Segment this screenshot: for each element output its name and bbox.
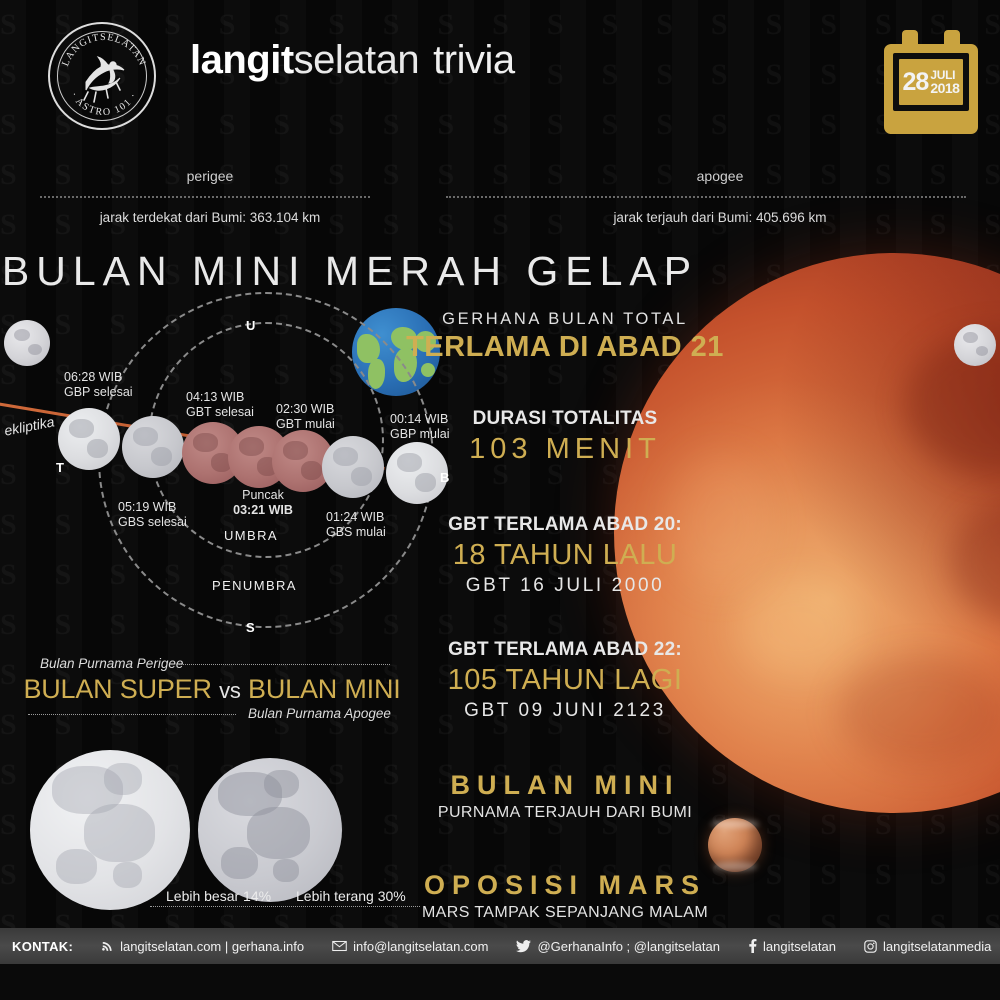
brand-part-langit: langit <box>190 38 294 82</box>
eclipse-moon-6 <box>58 408 120 470</box>
apogee-label: apogee <box>620 168 820 184</box>
svg-text:· ASTRO 101 ·: · ASTRO 101 · <box>68 90 140 118</box>
facts-column: GERHANA BULAN TOTAL TERLAMA DI ABAD 21 D… <box>400 310 730 922</box>
stat-size-label: Lebih besar 14% <box>166 888 271 904</box>
minimoon-illustration <box>198 758 342 902</box>
fact-sub-4: GBT 09 JUNI 2123 <box>400 700 730 722</box>
brand-part-trivia: trivia <box>433 38 514 82</box>
pegasus-rider-icon: LANGITSELATAN · ASTRO 101 · <box>50 24 158 132</box>
calendar-date-area: 28 JULI 2018 <box>899 59 963 105</box>
phase-label-gbt-selesai: 04:13 WIBGBT selesai <box>186 390 254 420</box>
stat-bright-label: Lebih terang 30% <box>296 888 406 904</box>
fact-sub-5: PURNAMA TERJAUH DARI BUMI <box>400 804 730 822</box>
fact-block-bulan-mini: BULAN MINI PURNAMA TERJAUH DARI BUMI <box>400 770 730 822</box>
phase-label-gbp-selesai: 06:28 WIBGBP selesai <box>64 370 133 400</box>
comparison-title-vs: vs <box>219 678 241 703</box>
phase-label-gbs-mulai: 01:24 WIBGBS mulai <box>326 510 386 540</box>
comparison-stats-dotted <box>150 906 420 907</box>
fact-block-century-20: GBT TERLAMA ABAD 20: 18 TAHUN LALU GBT 1… <box>400 514 730 597</box>
comparison-dotted-top <box>176 664 390 665</box>
contact-item-twitter[interactable]: @GerhanaInfo ; @langitselatan <box>516 939 720 954</box>
calendar-year: 2018 <box>930 81 959 95</box>
brand-title: langitselatantrivia <box>190 38 515 83</box>
fact-block-oposisi-mars: OPOSISI MARS MARS TAMPAK SEPANJANG MALAM <box>400 870 730 922</box>
footer-spacer <box>0 964 1000 1000</box>
rss-icon <box>101 940 114 953</box>
fact-block-eclipse-record: GERHANA BULAN TOTAL TERLAMA DI ABAD 21 <box>400 310 730 364</box>
fact-sub-6: MARS TAMPAK SEPANJANG MALAM <box>400 904 730 922</box>
fact-sub-3: GBT 16 JULI 2000 <box>400 575 730 597</box>
calendar-badge: 28 JULI 2018 <box>884 30 978 134</box>
fact-kicker-1: GERHANA BULAN TOTAL <box>400 310 730 329</box>
calendar-day: 28 <box>903 70 929 95</box>
header: LANGITSELATAN · ASTRO 101 · langitselata… <box>0 0 1000 150</box>
comparison-caption-top: Bulan Purnama Perigee <box>40 656 183 671</box>
fact-headline-6: OPOSISI MARS <box>400 870 730 901</box>
orbit-distance-strip: perigee jarak terdekat dari Bumi: 363.10… <box>0 150 1000 260</box>
contact-text-email: info@langitselatan.com <box>353 939 488 954</box>
twitter-icon <box>516 940 531 953</box>
contact-text-twitter: @GerhanaInfo ; @langitselatan <box>537 939 720 954</box>
penumbra-label: PENUMBRA <box>212 578 297 593</box>
perigee-dotted-line <box>40 196 370 198</box>
contact-text-facebook: langitselatan <box>763 939 836 954</box>
contact-item-email[interactable]: info@langitselatan.com <box>332 939 488 954</box>
apogee-moon-icon <box>954 324 996 366</box>
point-s: S <box>246 620 255 635</box>
brand-part-selatan: selatan <box>294 38 419 82</box>
contact-text-instagram: langitselatanmedia <box>883 939 991 954</box>
fact-kicker-2: DURASI TOTALITAS <box>400 408 730 430</box>
contact-label: KONTAK: <box>12 939 73 954</box>
perigee-sublabel: jarak terdekat dari Bumi: 363.104 km <box>90 210 330 225</box>
calendar-screen: 28 JULI 2018 <box>893 53 969 111</box>
langitselatan-logo: LANGITSELATAN · ASTRO 101 · <box>48 22 156 130</box>
eclipse-moon-2 <box>322 436 384 498</box>
point-t: T <box>56 460 64 475</box>
fact-headline-2: 103 MENIT <box>400 433 730 466</box>
phase-label-gbs-selesai: 05:19 WIBGBS selesai <box>118 500 187 530</box>
apogee-dotted-line <box>446 196 966 198</box>
fact-block-duration: DURASI TOTALITAS 103 MENIT <box>400 408 730 466</box>
comparison-title-b: BULAN MINI <box>248 674 401 704</box>
comparison-title-a: BULAN SUPER <box>23 674 211 704</box>
contact-item-instagram[interactable]: langitselatanmedia <box>864 939 991 954</box>
contact-item-facebook[interactable]: langitselatan <box>748 939 836 954</box>
eclipse-moon-5 <box>122 416 184 478</box>
perigee-label: perigee <box>110 168 310 184</box>
apogee-sublabel: jarak terjauh dari Bumi: 405.696 km <box>600 210 840 225</box>
contact-footer: KONTAK: langitselatan.com | gerhana.info… <box>0 928 1000 964</box>
fact-block-century-22: GBT TERLAMA ABAD 22: 105 TAHUN LAGI GBT … <box>400 639 730 722</box>
point-u: U <box>246 318 255 333</box>
envelope-icon <box>332 940 347 952</box>
calendar-body: 28 JULI 2018 <box>884 44 978 134</box>
comparison-title: BULAN SUPER vs BULAN MINI <box>22 674 402 705</box>
comparison-dotted-bottom <box>28 714 236 715</box>
peak-label: Puncak03:21 WIB <box>228 488 298 518</box>
fact-headline-3: 18 TAHUN LALU <box>400 539 730 572</box>
umbra-label: UMBRA <box>224 528 278 543</box>
fact-headline-4: 105 TAHUN LAGI <box>400 664 730 697</box>
fact-headline-5: BULAN MINI <box>400 770 730 801</box>
facebook-icon <box>748 939 757 953</box>
contact-item-website[interactable]: langitselatan.com | gerhana.info <box>101 939 304 954</box>
fact-headline-1: TERLAMA DI ABAD 21 <box>400 331 730 364</box>
fact-kicker-4: GBT TERLAMA ABAD 22: <box>400 639 730 661</box>
comparison-caption-bottom: Bulan Purnama Apogee <box>248 706 391 721</box>
phase-label-gbt-mulai: 02:30 WIBGBT mulai <box>276 402 335 432</box>
contact-text-website: langitselatan.com | gerhana.info <box>120 939 304 954</box>
instagram-icon <box>864 940 877 953</box>
page-title: BULAN MINI MERAH GELAP <box>0 248 700 295</box>
calendar-month-year: JULI 2018 <box>930 69 959 95</box>
supermoon-illustration <box>30 750 190 910</box>
fact-kicker-3: GBT TERLAMA ABAD 20: <box>400 514 730 536</box>
